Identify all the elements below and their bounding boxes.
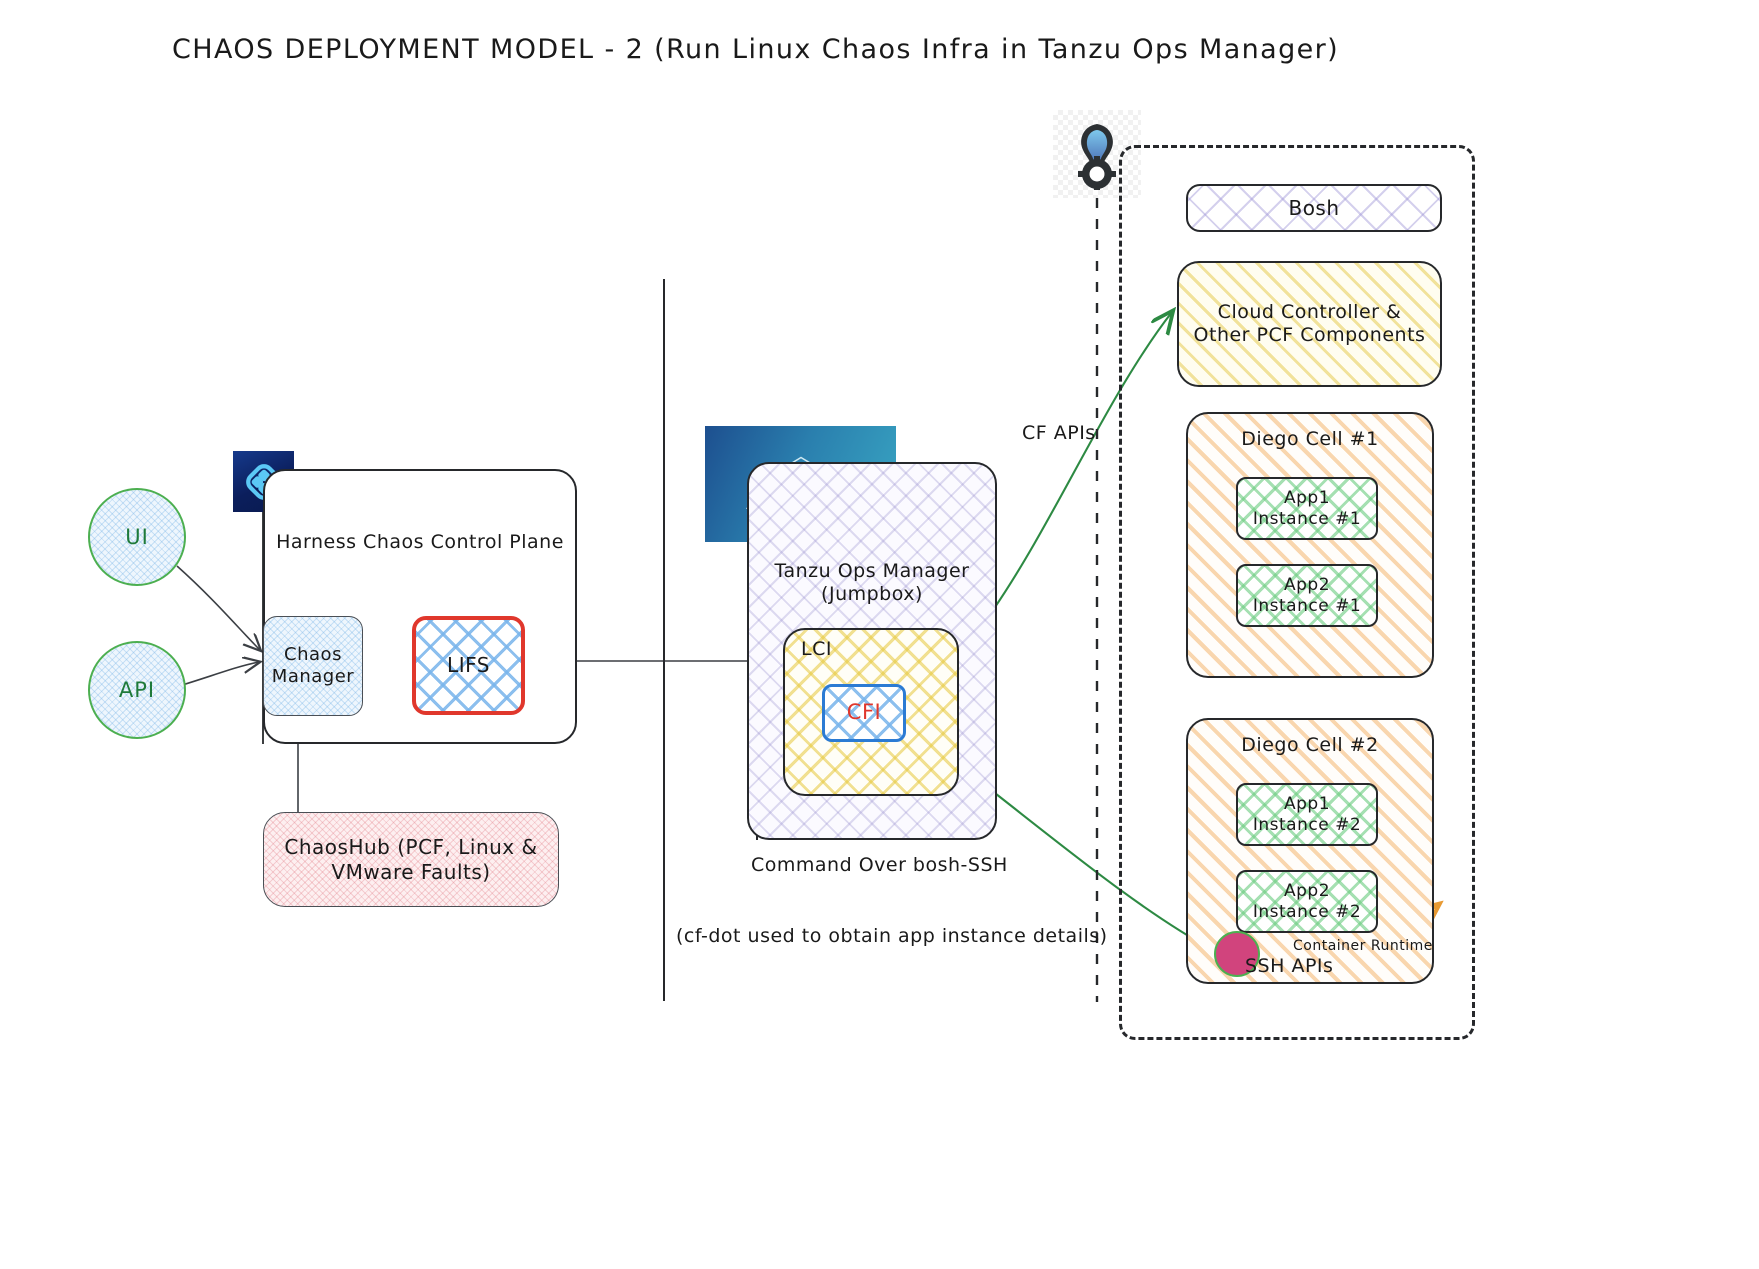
cf-apis-label: CF APIs	[1022, 422, 1096, 446]
cfi-box[interactable]: CFI	[822, 684, 906, 742]
section-divider	[663, 279, 665, 1001]
app2-instance1-box[interactable]: App2 Instance #1	[1236, 564, 1378, 627]
lifs-label: LIFS	[447, 653, 490, 677]
diego-cell-1-box[interactable]: Diego Cell #1	[1186, 412, 1434, 678]
command-over-bosh-ssh-note: Command Over bosh-SSH	[751, 854, 1008, 878]
cloud-controller-label: Cloud Controller & Other PCF Components	[1194, 301, 1426, 347]
bosh-box[interactable]: Bosh	[1186, 184, 1442, 232]
diego-cell-2-label: Diego Cell #2	[1241, 734, 1378, 757]
lci-label: LCI	[801, 638, 832, 661]
chaos-manager-box[interactable]: Chaos Manager	[263, 616, 363, 716]
api-node-label: API	[119, 678, 155, 702]
app2-instance1-label: App2 Instance #1	[1253, 575, 1361, 616]
ui-node[interactable]: UI	[88, 488, 186, 586]
control-plane-label: Harness Chaos Control Plane	[276, 531, 564, 554]
page-title: CHAOS DEPLOYMENT MODEL - 2 (Run Linux Ch…	[172, 34, 1339, 65]
app1-instance2-box[interactable]: App1 Instance #2	[1236, 783, 1378, 846]
ssh-apis-label: SSH APIs	[1245, 955, 1333, 979]
cfdot-note: (cf-dot used to obtain app instance deta…	[676, 925, 1108, 949]
container-runtime-label: Container Runtime	[1293, 938, 1433, 956]
app2-instance2-box[interactable]: App2 Instance #2	[1236, 870, 1378, 933]
cfi-label: CFI	[847, 700, 881, 726]
cloud-controller-box[interactable]: Cloud Controller & Other PCF Components	[1177, 261, 1442, 387]
ui-node-label: UI	[125, 525, 149, 549]
app1-instance1-label: App1 Instance #1	[1253, 488, 1361, 529]
chaos-manager-label: Chaos Manager	[272, 644, 354, 688]
tanzu-ops-manager-label: Tanzu Ops Manager (Jumpbox)	[775, 560, 970, 606]
api-node[interactable]: API	[88, 641, 186, 739]
app1-instance2-label: App1 Instance #2	[1253, 794, 1361, 835]
chaoshub-label: ChaosHub (PCF, Linux & VMware Faults)	[284, 835, 537, 884]
app2-instance2-label: App2 Instance #2	[1253, 881, 1361, 922]
bosh-label: Bosh	[1288, 196, 1339, 220]
diego-cell-1-label: Diego Cell #1	[1241, 428, 1378, 451]
lifs-box[interactable]: LIFS	[412, 616, 525, 715]
app1-instance1-box[interactable]: App1 Instance #1	[1236, 477, 1378, 540]
chaoshub-box[interactable]: ChaosHub (PCF, Linux & VMware Faults)	[263, 812, 559, 907]
